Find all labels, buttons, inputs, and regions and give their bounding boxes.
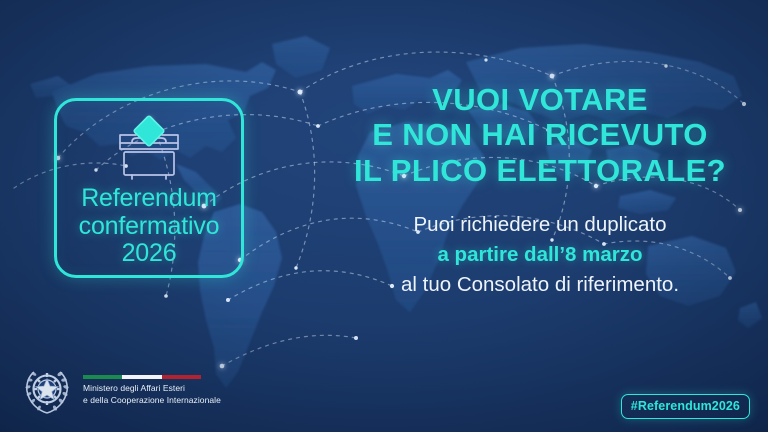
badge-title: Referendum confermativo 2026 [79,185,220,268]
italian-flag-bar [83,375,201,379]
ministry-line-2: e della Cooperazione Internazionale [83,395,221,407]
hashtag-badge: #Referendum2026 [621,394,750,419]
referendum-badge: Referendum confermativo 2026 [54,98,244,278]
ministry-name: Ministero degli Affari Esteri e della Co… [83,383,221,407]
badge-line-1: Referendum [79,185,220,213]
headline: VUOI VOTARE E NON HAI RICEVUTO IL PLICO … [330,82,750,188]
flag-stripe-white [122,375,161,379]
ballot-diamond [133,115,164,146]
badge-line-3: 2026 [79,240,220,268]
ballot-box-icon [112,111,186,183]
subcopy-highlight: a partire dall’8 marzo [330,240,750,270]
badge-line-2: confermativo [79,213,220,241]
italian-republic-emblem [22,364,72,416]
flag-stripe-green [83,375,122,379]
ministry-line-1: Ministero degli Affari Esteri [83,383,221,395]
message-column: VUOI VOTARE E NON HAI RICEVUTO IL PLICO … [330,82,750,300]
poster-canvas: Referendum confermativo 2026 VUOI VOTARE… [0,0,768,432]
subcopy: Puoi richiedere un duplicato a partire d… [330,210,750,300]
ministry-logo-lockup: Ministero degli Affari Esteri e della Co… [22,364,221,416]
headline-line-2: E NON HAI RICEVUTO [330,117,750,152]
flag-stripe-red [162,375,201,379]
headline-line-1: VUOI VOTARE [330,82,750,117]
subcopy-line-1: Puoi richiedere un duplicato [330,210,750,240]
subcopy-line-3: al tuo Consolato di riferimento. [330,270,750,300]
headline-line-3: IL PLICO ELETTORALE? [330,153,750,188]
